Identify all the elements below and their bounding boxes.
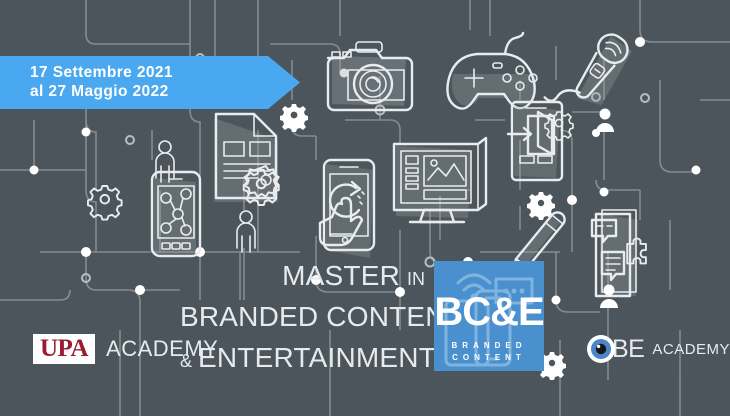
gear-icon [88,186,122,220]
bce-logo-subtitle-1: BRANDED [434,341,544,350]
date-line-2: al 27 Maggio 2022 [30,82,173,101]
date-banner-text: 17 Settembre 2021 al 27 Maggio 2022 [30,63,173,101]
upa-academy-logo: UPA ACADEMY [33,333,218,365]
obe-academy-logo: BE ACADEMY [586,333,730,365]
obe-academy-word: ACADEMY [652,337,730,362]
upa-mark-text: UPA [40,336,88,361]
upa-mark: UPA [33,334,95,364]
monitor-media-icon [394,138,486,222]
tablet-exit-gear-icon [508,102,573,180]
title-line-1: MASTERIN [180,258,425,299]
bce-logo: BC&E BRANDED CONTENT [434,261,544,371]
hand-phone-touch-icon [320,160,374,258]
title-master: MASTER [282,260,400,291]
camera-icon [328,42,412,110]
bce-logo-name: BC&E [434,291,544,333]
date-banner: 17 Settembre 2021 al 27 Maggio 2022 [0,56,300,109]
title-in: IN [407,269,425,289]
upa-academy-word: ACADEMY [106,336,218,362]
person-icon [156,141,174,182]
person-icon [237,211,255,252]
eye-icon [586,334,616,364]
promo-banner-image: .ln{fill:none;stroke:#e9ecee;stroke-widt… [0,0,730,416]
document-chat-puzzle-icon [592,210,646,296]
gamepad-icon [447,33,537,109]
smartphone-network-icon [152,172,200,256]
obe-mark-text: BE [612,337,644,362]
title-entertainment: ENTERTAINMENT [198,342,436,373]
date-line-1: 17 Settembre 2021 [30,63,173,82]
title-branded-content: BRANDED CONTENT [180,301,463,332]
person-icon [596,109,614,133]
bce-logo-subtitle-2: CONTENT [434,353,544,362]
